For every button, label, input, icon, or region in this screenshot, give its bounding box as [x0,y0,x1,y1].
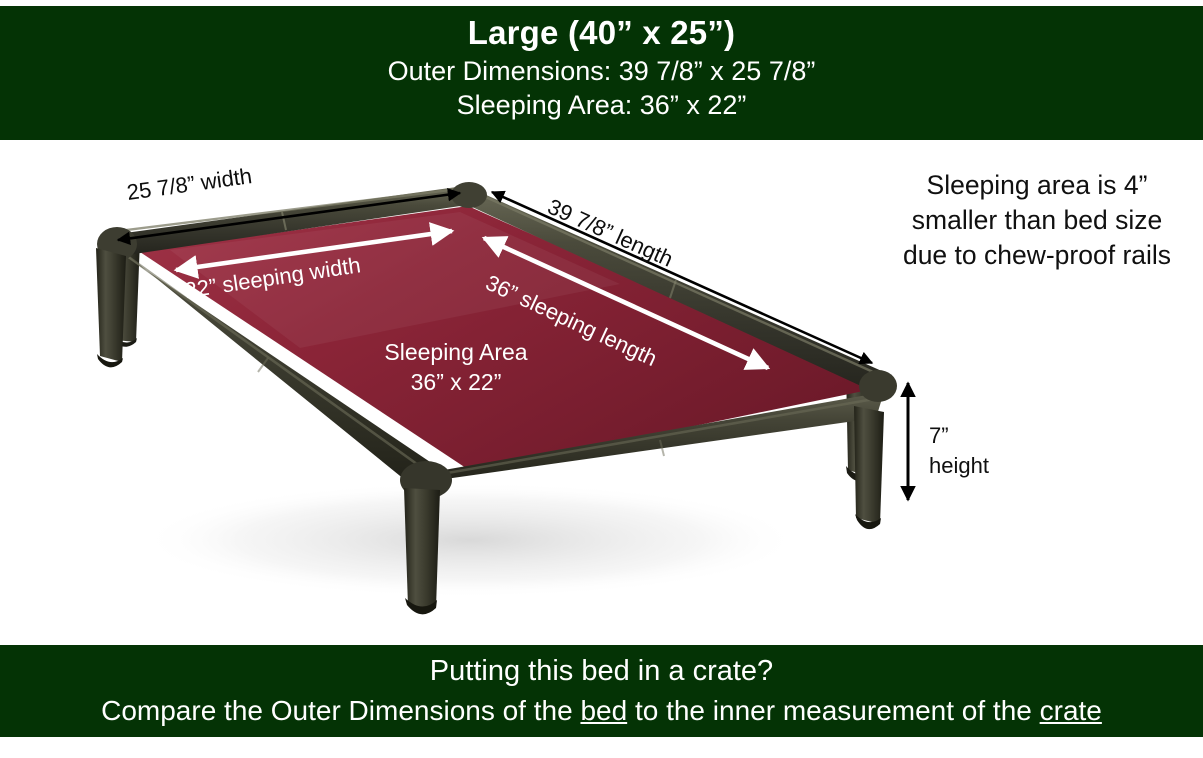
compare-text-part2: to the inner measurement of the [627,695,1039,726]
corner-joint-top [451,182,487,208]
height-word: height [929,451,1019,481]
outer-dimensions-line: Outer Dimensions: 39 7/8” x 25 7/8” [0,54,1203,88]
sleeping-area-label-line2: 36” x 22” [411,369,502,395]
side-note-line-1: Sleeping area is 4” [876,168,1198,203]
side-note: Sleeping area is 4” smaller than bed siz… [876,168,1198,273]
side-note-line-3: due to chew-proof rails [876,238,1198,273]
top-banner: Large (40” x 25”) Outer Dimensions: 39 7… [0,6,1203,140]
height-label: 7” height [929,421,1019,481]
height-value: 7” [929,421,1019,451]
compare-crate-word: crate [1040,695,1102,726]
corner-joint-right [859,370,897,402]
crate-compare-line: Compare the Outer Dimensions of the bed … [0,691,1203,731]
outer-width-label: 25 7/8” width [125,163,253,205]
compare-text-part1: Compare the Outer Dimensions of the [101,695,580,726]
crate-question: Putting this bed in a crate? [0,651,1203,691]
infographic-page: Large (40” x 25”) Outer Dimensions: 39 7… [0,0,1203,758]
sleeping-area-label-line1: Sleeping Area [384,339,527,365]
page-title: Large (40” x 25”) [0,12,1203,54]
floor-shadow [140,482,800,598]
side-note-line-2: smaller than bed size [876,203,1198,238]
sleeping-area-line: Sleeping Area: 36” x 22” [0,88,1203,122]
bottom-banner: Putting this bed in a crate? Compare the… [0,645,1203,737]
compare-bed-word: bed [580,695,627,726]
